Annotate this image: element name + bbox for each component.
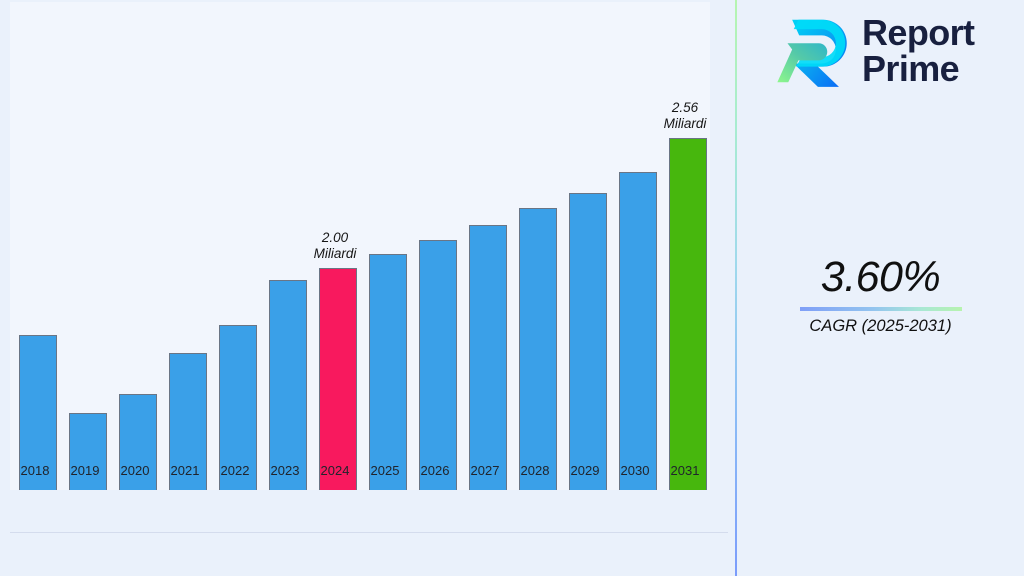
x-tick-2020: 2020 [110,463,160,478]
x-axis-line [10,532,728,533]
bar-2026[interactable] [419,240,457,490]
x-tick-2030: 2030 [610,463,660,478]
bar-2031[interactable] [669,138,707,490]
bar-group-2024: 2.00 Miliardi2024 [310,0,360,490]
plot-area: 2018201920202021202220232.00 Miliardi202… [0,0,735,534]
cagr-value: 3.60% [737,252,1024,302]
x-tick-2018: 2018 [10,463,60,478]
bar-2029[interactable] [569,193,607,490]
bar-group-2022: 2022 [210,0,260,490]
bar-value-label-2031: 2.56 Miliardi [647,100,723,132]
cagr-block: 3.60% CAGR (2025-2031) [737,252,1024,337]
x-tick-2027: 2027 [460,463,510,478]
x-tick-2023: 2023 [260,463,310,478]
x-tick-2019: 2019 [60,463,110,478]
x-tick-2022: 2022 [210,463,260,478]
x-tick-2021: 2021 [160,463,210,478]
bar-group-2030: 2030 [610,0,660,490]
x-tick-2029: 2029 [560,463,610,478]
x-tick-2025: 2025 [360,463,410,478]
bar-group-2028: 2028 [510,0,560,490]
x-tick-2028: 2028 [510,463,560,478]
bar-group-2019: 2019 [60,0,110,490]
bar-group-2031: 2.56 Miliardi2031 [660,0,710,490]
bar-2024[interactable] [319,268,357,490]
bar-group-2026: 2026 [410,0,460,490]
bar-2028[interactable] [519,208,557,490]
x-tick-2026: 2026 [410,463,460,478]
bar-2030[interactable] [619,172,657,490]
chart-panel: Fiocchi di germi decorati Mercato 201820… [0,0,735,576]
bar-group-2021: 2021 [160,0,210,490]
bar-group-2020: 2020 [110,0,160,490]
bar-2025[interactable] [369,254,407,490]
x-tick-2024: 2024 [310,463,360,478]
bar-2027[interactable] [469,225,507,490]
bar-group-2018: 2018 [10,0,60,490]
bar-group-2025: 2025 [360,0,410,490]
bar-group-2027: 2027 [460,0,510,490]
bar-group-2029: 2029 [560,0,610,490]
cagr-caption: CAGR (2025-2031) [737,315,1024,337]
chart-infographic: Fiocchi di germi decorati Mercato 201820… [0,0,1024,576]
cagr-divider [800,307,962,311]
brand-wordmark: Report Prime [862,15,974,87]
bar-2023[interactable] [269,280,307,490]
x-tick-2031: 2031 [660,463,710,478]
brand-panel: Report Prime 3.60% CAGR (2025-2031) [737,0,1024,576]
report-prime-r-logo-icon [775,12,853,90]
brand-logo: Report Prime [775,12,974,90]
bar-2019[interactable] [69,413,107,490]
